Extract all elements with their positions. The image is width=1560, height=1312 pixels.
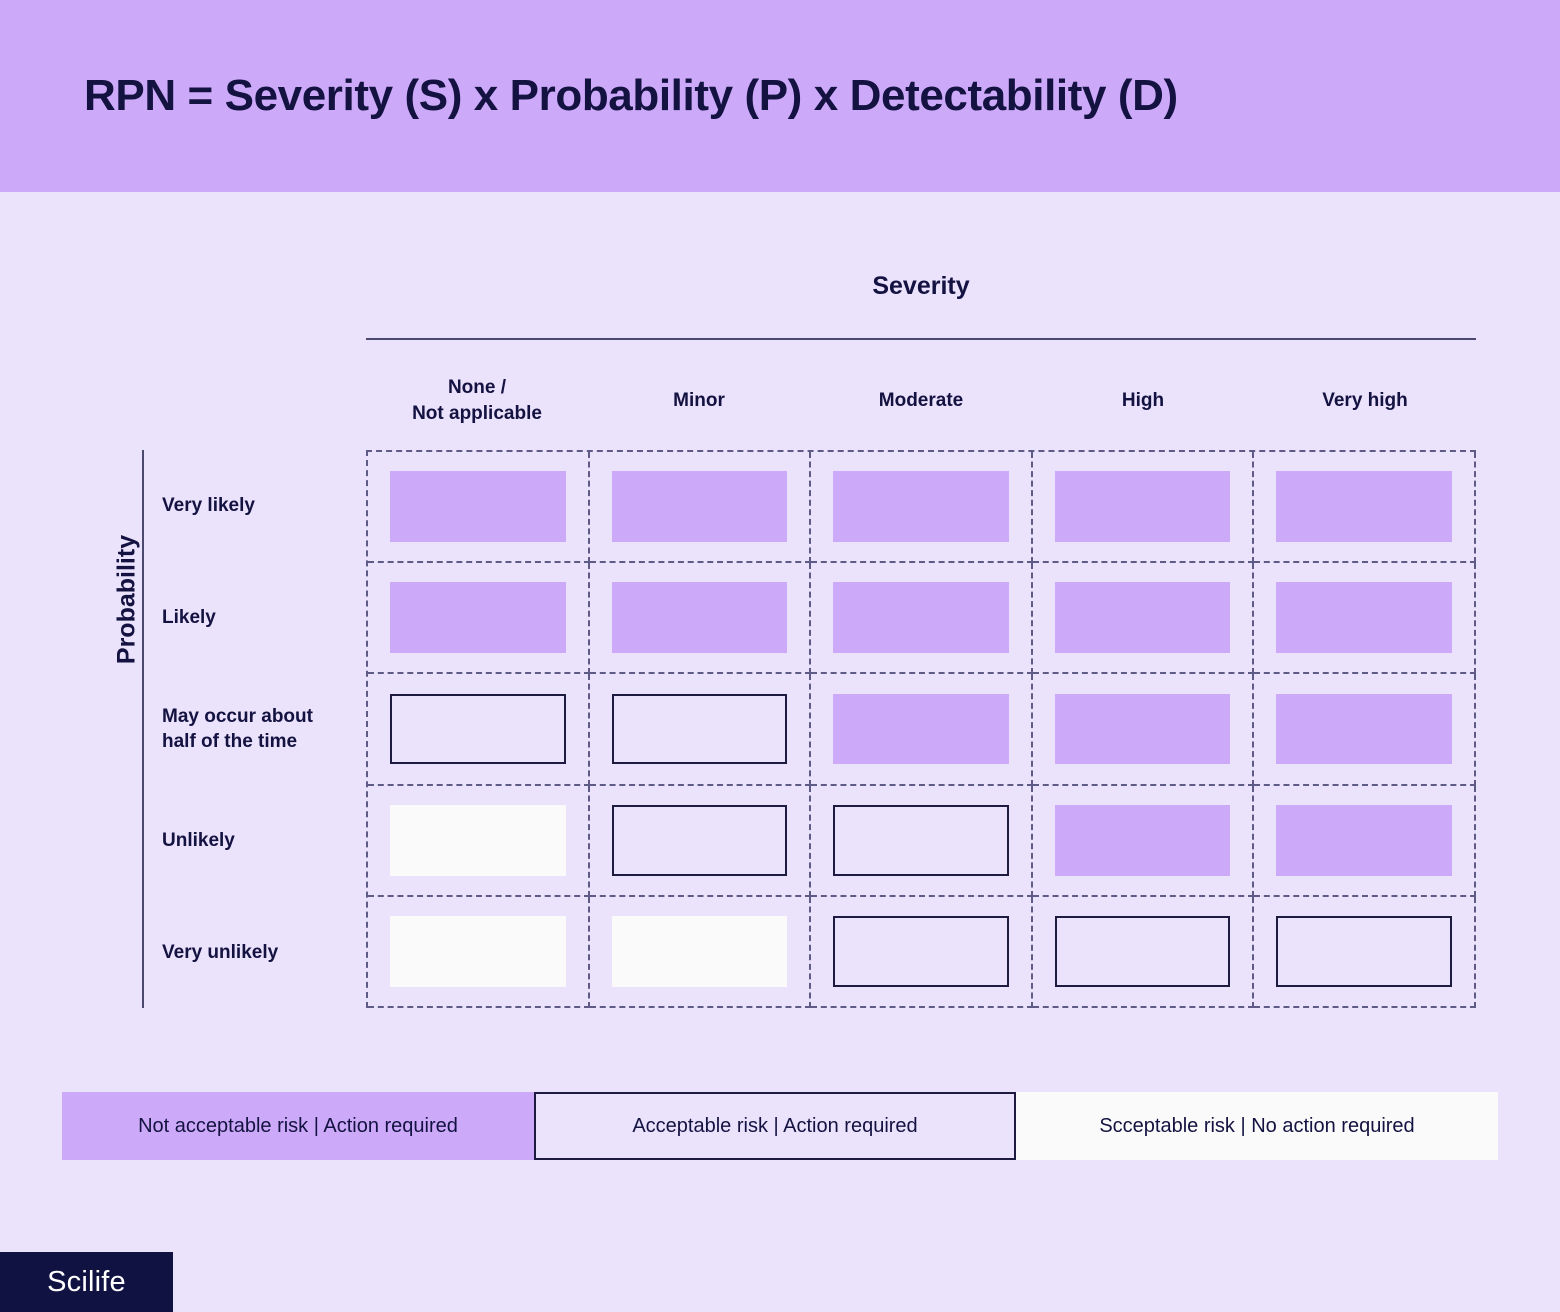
probability-row-labels: Very likely Likely May occur about half …: [162, 450, 362, 1008]
matrix-cell-chip: [833, 916, 1009, 987]
matrix-cell-chip: [833, 694, 1009, 765]
matrix-cell[interactable]: [811, 786, 1033, 897]
matrix-cell-chip: [612, 471, 788, 542]
matrix-cell[interactable]: [811, 452, 1033, 563]
matrix-cell-chip: [390, 471, 566, 542]
row-label-line2: half of the time: [162, 731, 297, 752]
probability-axis-rule: [142, 450, 144, 1008]
severity-column-headers: None / Not applicable Minor Moderate Hig…: [366, 360, 1476, 442]
matrix-cell-chip: [612, 916, 788, 987]
legend: Not acceptable risk | Action required Ac…: [62, 1092, 1498, 1160]
probability-axis-title: Probability: [113, 455, 142, 745]
row-label-may-occur-about-half-of-the-time: May occur about half of the time: [162, 673, 362, 785]
matrix-cell[interactable]: [368, 452, 590, 563]
matrix-cell[interactable]: [368, 786, 590, 897]
matrix-cell[interactable]: [811, 897, 1033, 1008]
matrix-cell-chip: [833, 805, 1009, 876]
column-header-very-high: Very high: [1254, 360, 1476, 442]
matrix-cell-chip: [1276, 582, 1452, 653]
matrix-cell[interactable]: [1254, 786, 1476, 897]
matrix-cell-chip: [1055, 471, 1231, 542]
matrix-cell[interactable]: [1254, 674, 1476, 785]
matrix-cell[interactable]: [590, 897, 812, 1008]
matrix-cell-chip: [612, 805, 788, 876]
matrix-cell-chip: [1276, 471, 1452, 542]
matrix-cell-chip: [833, 471, 1009, 542]
row-label-line1: May occur about: [162, 706, 313, 727]
matrix-cell-chip: [612, 582, 788, 653]
matrix-cell-chip: [833, 582, 1009, 653]
matrix-cell[interactable]: [590, 786, 812, 897]
matrix-cell-chip: [1276, 805, 1452, 876]
column-header-line2: Not applicable: [412, 403, 542, 424]
matrix-cell-chip: [612, 694, 788, 765]
scilife-logo-text: Scilife: [47, 1266, 126, 1299]
matrix-cell[interactable]: [1033, 786, 1255, 897]
matrix-cell[interactable]: [1033, 452, 1255, 563]
row-label-very-unlikely: Very unlikely: [162, 896, 362, 1008]
matrix-cell[interactable]: [1033, 897, 1255, 1008]
matrix-cell[interactable]: [590, 452, 812, 563]
risk-matrix: [366, 450, 1476, 1008]
matrix-cell-chip: [390, 916, 566, 987]
row-label-very-likely: Very likely: [162, 450, 362, 562]
column-header-minor: Minor: [588, 360, 810, 442]
matrix-cell[interactable]: [811, 563, 1033, 674]
page-title: RPN = Severity (S) x Probability (P) x D…: [84, 71, 1178, 121]
matrix-cell-chip: [390, 694, 566, 765]
column-header-high: High: [1032, 360, 1254, 442]
matrix-cell-chip: [390, 582, 566, 653]
matrix-cell[interactable]: [368, 563, 590, 674]
matrix-cell[interactable]: [1033, 674, 1255, 785]
severity-axis-title: Severity: [366, 272, 1476, 301]
legend-item-acceptable-risk-action-required[interactable]: Acceptable risk | Action required: [534, 1092, 1016, 1160]
matrix-cell[interactable]: [1254, 897, 1476, 1008]
matrix-cell-chip: [1055, 694, 1231, 765]
legend-item-not-acceptable-risk[interactable]: Not acceptable risk | Action required: [62, 1092, 534, 1160]
matrix-cell[interactable]: [590, 674, 812, 785]
scilife-logo: Scilife: [0, 1252, 173, 1312]
column-header-moderate: Moderate: [810, 360, 1032, 442]
matrix-cell[interactable]: [811, 674, 1033, 785]
header-band: RPN = Severity (S) x Probability (P) x D…: [0, 0, 1560, 192]
matrix-cell-chip: [1276, 916, 1452, 987]
matrix-cell-chip: [1055, 582, 1231, 653]
row-label-likely: Likely: [162, 562, 362, 674]
matrix-cell[interactable]: [1254, 452, 1476, 563]
matrix-cell[interactable]: [1033, 563, 1255, 674]
matrix-cell[interactable]: [1254, 563, 1476, 674]
column-header-none-not-applicable: None / Not applicable: [366, 360, 588, 442]
column-header-line1: None /: [448, 377, 506, 398]
matrix-cell[interactable]: [590, 563, 812, 674]
legend-item-acceptable-risk-no-action-required[interactable]: Scceptable risk | No action required: [1016, 1092, 1498, 1160]
matrix-cell-chip: [1055, 916, 1231, 987]
matrix-cell-chip: [1055, 805, 1231, 876]
matrix-cell[interactable]: [368, 897, 590, 1008]
matrix-cell-chip: [390, 805, 566, 876]
row-label-unlikely: Unlikely: [162, 785, 362, 897]
severity-axis-rule: [366, 338, 1476, 340]
matrix-cell[interactable]: [368, 674, 590, 785]
matrix-cell-chip: [1276, 694, 1452, 765]
